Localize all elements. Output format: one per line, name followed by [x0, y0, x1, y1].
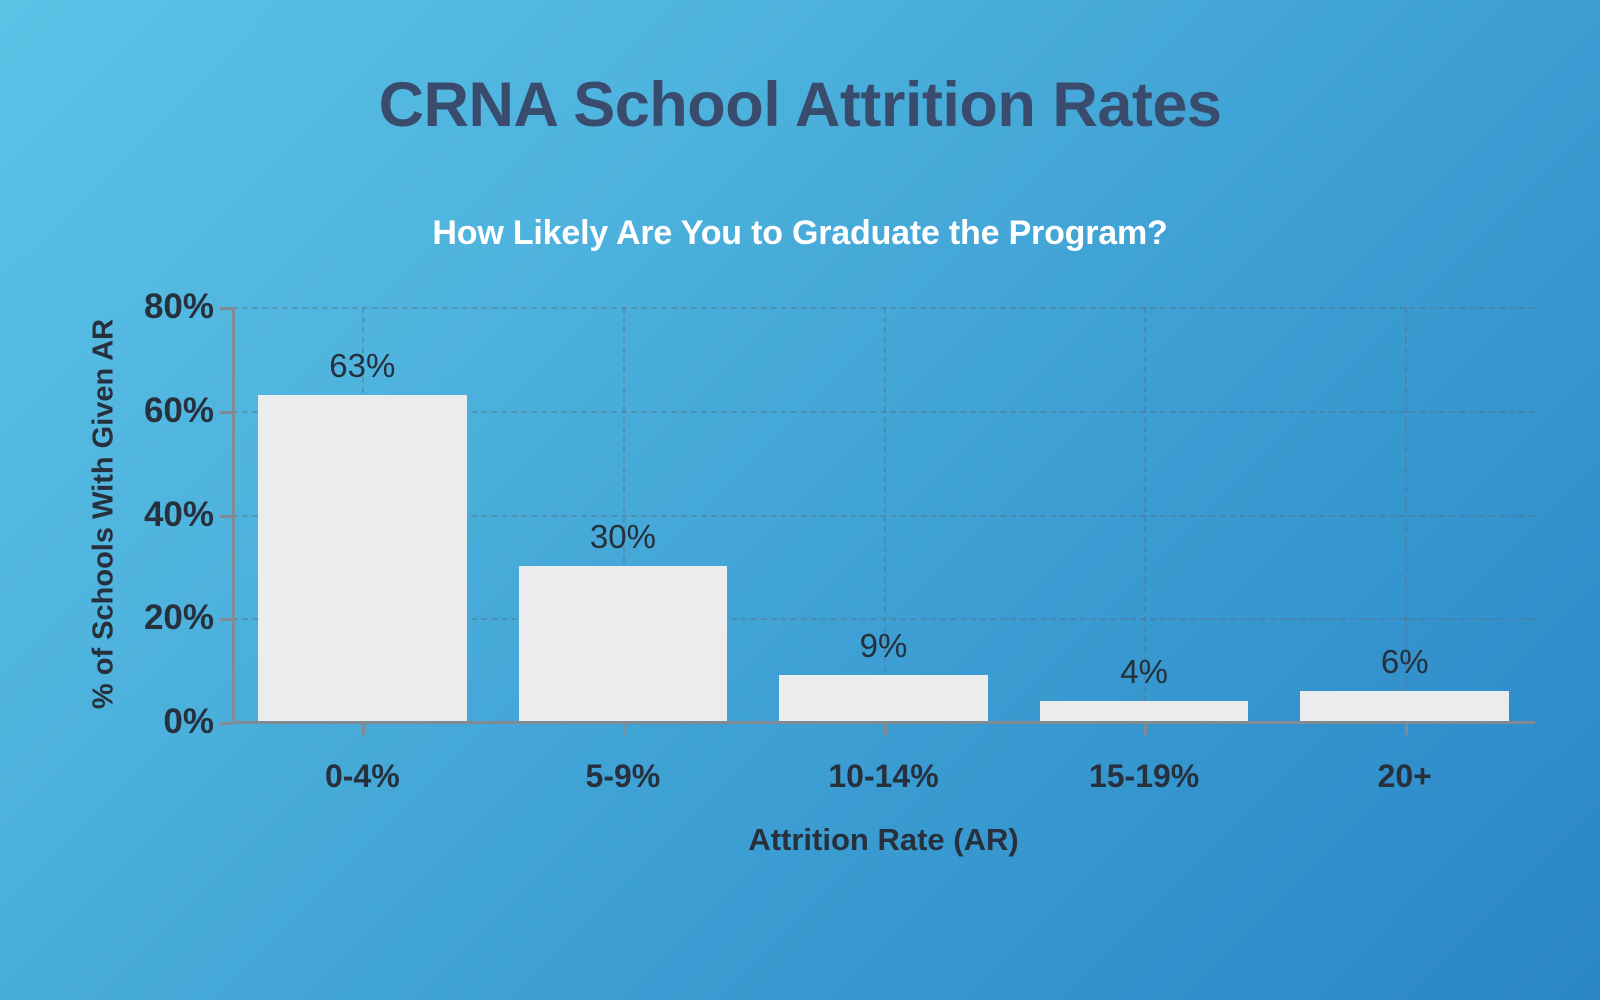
bar: 63% [258, 395, 466, 722]
chart-canvas: CRNA School Attrition Rates How Likely A… [0, 0, 1600, 1000]
x-tick-label: 5-9% [586, 758, 661, 795]
bar: 9% [779, 675, 987, 722]
x-tick-label: 15-19% [1089, 758, 1199, 795]
bar-value-label: 30% [590, 518, 656, 556]
chart-subtitle: How Likely Are You to Graduate the Progr… [0, 214, 1600, 253]
y-tick-label: 80% [144, 287, 214, 327]
y-tick-mark [220, 515, 232, 518]
page-title: CRNA School Attrition Rates [0, 72, 1600, 138]
plot-area: 63%30%9%4%6% 0%20%40%60%80% 0-4%5-9%10-1… [232, 307, 1535, 722]
bar-value-label: 63% [329, 347, 395, 385]
x-tick-label: 10-14% [828, 758, 938, 795]
bar: 4% [1040, 701, 1248, 722]
x-axis-line [232, 721, 1535, 724]
y-tick-label: 40% [144, 495, 214, 535]
y-tick-mark [220, 307, 232, 310]
y-axis-title: % of Schools With Given AR [88, 319, 121, 709]
y-tick-label: 60% [144, 391, 214, 431]
x-axis-title: Attrition Rate (AR) [232, 822, 1535, 858]
y-axis-line [232, 307, 235, 723]
x-tick-label: 0-4% [325, 758, 400, 795]
y-tick-mark [220, 618, 232, 621]
y-tick-label: 20% [144, 598, 214, 638]
y-tick-mark [220, 411, 232, 414]
bar-value-label: 4% [1120, 653, 1168, 691]
y-tick-mark [220, 722, 232, 725]
bar-value-label: 9% [860, 627, 908, 665]
x-tick-label: 20+ [1378, 758, 1432, 795]
y-tick-label: 0% [163, 702, 214, 742]
bar-value-label: 6% [1381, 643, 1429, 681]
bar: 30% [519, 566, 727, 722]
bar: 6% [1300, 691, 1508, 722]
